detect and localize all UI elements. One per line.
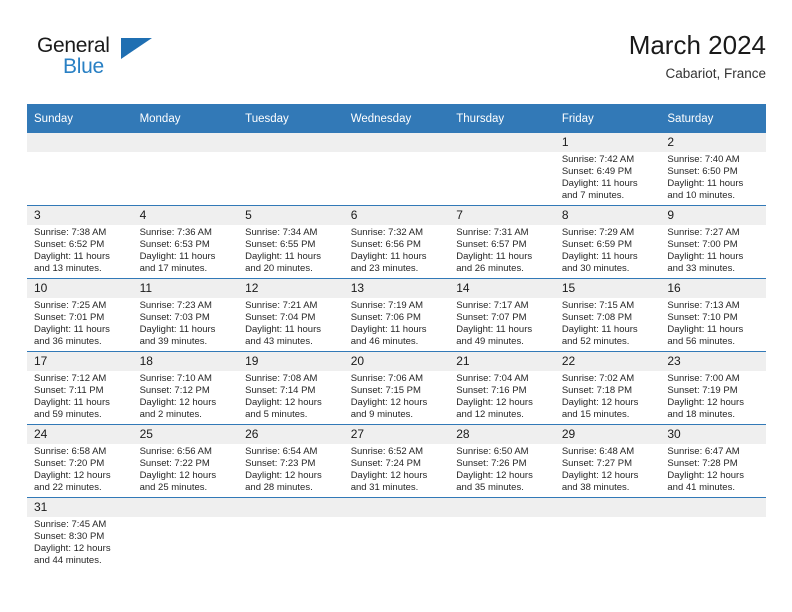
day-cell-content: 1Sunrise: 7:42 AMSunset: 6:49 PMDaylight… <box>555 133 661 205</box>
daylight-text-line1: Daylight: 12 hours <box>351 470 445 482</box>
sunset-text: Sunset: 6:50 PM <box>667 166 761 178</box>
day-sun-info: Sunrise: 7:34 AMSunset: 6:55 PMDaylight:… <box>238 225 344 275</box>
day-cell-content <box>555 498 661 576</box>
day-sun-info: Sunrise: 7:15 AMSunset: 7:08 PMDaylight:… <box>555 298 661 348</box>
day-sun-info: Sunrise: 7:21 AMSunset: 7:04 PMDaylight:… <box>238 298 344 348</box>
calendar-day-cell[interactable]: 22Sunrise: 7:02 AMSunset: 7:18 PMDayligh… <box>555 352 661 425</box>
daylight-text-line2: and 7 minutes. <box>562 190 656 202</box>
sunset-text: Sunset: 7:00 PM <box>667 239 761 251</box>
sunset-text: Sunset: 6:56 PM <box>351 239 445 251</box>
daylight-text-line1: Daylight: 11 hours <box>562 324 656 336</box>
calendar-day-cell[interactable] <box>449 133 555 206</box>
day-number <box>238 498 344 517</box>
day-cell-content: 8Sunrise: 7:29 AMSunset: 6:59 PMDaylight… <box>555 206 661 278</box>
daylight-text-line1: Daylight: 11 hours <box>140 324 234 336</box>
day-cell-content: 25Sunrise: 6:56 AMSunset: 7:22 PMDayligh… <box>133 425 239 497</box>
daylight-text-line2: and 31 minutes. <box>351 482 445 494</box>
day-sun-info <box>449 517 555 519</box>
day-sun-info: Sunrise: 7:17 AMSunset: 7:07 PMDaylight:… <box>449 298 555 348</box>
day-number: 14 <box>449 279 555 298</box>
day-sun-info: Sunrise: 7:38 AMSunset: 6:52 PMDaylight:… <box>27 225 133 275</box>
daylight-text-line2: and 52 minutes. <box>562 336 656 348</box>
sunrise-text: Sunrise: 7:12 AM <box>34 373 128 385</box>
daylight-text-line1: Daylight: 11 hours <box>667 324 761 336</box>
daylight-text-line2: and 20 minutes. <box>245 263 339 275</box>
sunset-text: Sunset: 7:16 PM <box>456 385 550 397</box>
day-sun-info: Sunrise: 6:54 AMSunset: 7:23 PMDaylight:… <box>238 444 344 494</box>
day-cell-content: 6Sunrise: 7:32 AMSunset: 6:56 PMDaylight… <box>344 206 450 278</box>
daylight-text-line1: Daylight: 11 hours <box>456 251 550 263</box>
day-cell-content <box>238 133 344 205</box>
daylight-text-line2: and 35 minutes. <box>456 482 550 494</box>
day-number: 23 <box>660 352 766 371</box>
sunrise-text: Sunrise: 7:31 AM <box>456 227 550 239</box>
day-sun-info: Sunrise: 7:23 AMSunset: 7:03 PMDaylight:… <box>133 298 239 348</box>
title-block: March 2024 Cabariot, France <box>629 28 766 84</box>
daylight-text-line1: Daylight: 12 hours <box>456 470 550 482</box>
daylight-text-line2: and 23 minutes. <box>351 263 445 275</box>
sunset-text: Sunset: 7:27 PM <box>562 458 656 470</box>
day-sun-info <box>344 517 450 519</box>
day-cell-content: 17Sunrise: 7:12 AMSunset: 7:11 PMDayligh… <box>27 352 133 424</box>
sunset-text: Sunset: 6:53 PM <box>140 239 234 251</box>
calendar-week-row: 17Sunrise: 7:12 AMSunset: 7:11 PMDayligh… <box>27 352 766 425</box>
daylight-text-line1: Daylight: 11 hours <box>245 251 339 263</box>
calendar-day-cell[interactable] <box>555 498 661 577</box>
day-number: 26 <box>238 425 344 444</box>
calendar-day-cell[interactable]: 18Sunrise: 7:10 AMSunset: 7:12 PMDayligh… <box>133 352 239 425</box>
page-title: March 2024 <box>629 28 766 62</box>
daylight-text-line1: Daylight: 12 hours <box>245 470 339 482</box>
daylight-text-line2: and 33 minutes. <box>667 263 761 275</box>
day-sun-info: Sunrise: 7:25 AMSunset: 7:01 PMDaylight:… <box>27 298 133 348</box>
day-sun-info: Sunrise: 7:10 AMSunset: 7:12 PMDaylight:… <box>133 371 239 421</box>
day-cell-content: 18Sunrise: 7:10 AMSunset: 7:12 PMDayligh… <box>133 352 239 424</box>
daylight-text-line2: and 46 minutes. <box>351 336 445 348</box>
calendar-day-cell[interactable]: 2Sunrise: 7:40 AMSunset: 6:50 PMDaylight… <box>660 133 766 206</box>
day-sun-info: Sunrise: 7:02 AMSunset: 7:18 PMDaylight:… <box>555 371 661 421</box>
sunrise-text: Sunrise: 7:29 AM <box>562 227 656 239</box>
calendar-day-cell[interactable]: 31Sunrise: 7:45 AMSunset: 8:30 PMDayligh… <box>27 498 133 577</box>
calendar-day-cell[interactable] <box>344 498 450 577</box>
day-sun-info <box>344 152 450 154</box>
calendar-week-row: 24Sunrise: 6:58 AMSunset: 7:20 PMDayligh… <box>27 425 766 498</box>
day-cell-content: 3Sunrise: 7:38 AMSunset: 6:52 PMDaylight… <box>27 206 133 278</box>
day-cell-content: 22Sunrise: 7:02 AMSunset: 7:18 PMDayligh… <box>555 352 661 424</box>
sunrise-text: Sunrise: 6:56 AM <box>140 446 234 458</box>
day-cell-content: 10Sunrise: 7:25 AMSunset: 7:01 PMDayligh… <box>27 279 133 351</box>
calendar-day-cell[interactable]: 30Sunrise: 6:47 AMSunset: 7:28 PMDayligh… <box>660 425 766 498</box>
daylight-text-line1: Daylight: 11 hours <box>351 324 445 336</box>
calendar-day-cell[interactable] <box>344 133 450 206</box>
daylight-text-line1: Daylight: 11 hours <box>351 251 445 263</box>
day-sun-info <box>133 517 239 519</box>
sunrise-text: Sunrise: 6:48 AM <box>562 446 656 458</box>
day-sun-info: Sunrise: 7:08 AMSunset: 7:14 PMDaylight:… <box>238 371 344 421</box>
daylight-text-line1: Daylight: 12 hours <box>351 397 445 409</box>
daylight-text-line2: and 12 minutes. <box>456 409 550 421</box>
daylight-text-line2: and 36 minutes. <box>34 336 128 348</box>
calendar-day-cell[interactable]: 7Sunrise: 7:31 AMSunset: 6:57 PMDaylight… <box>449 206 555 279</box>
daylight-text-line1: Daylight: 11 hours <box>562 178 656 190</box>
sunrise-text: Sunrise: 7:08 AM <box>245 373 339 385</box>
calendar-day-cell[interactable]: 14Sunrise: 7:17 AMSunset: 7:07 PMDayligh… <box>449 279 555 352</box>
calendar-day-cell[interactable]: 8Sunrise: 7:29 AMSunset: 6:59 PMDaylight… <box>555 206 661 279</box>
day-number: 5 <box>238 206 344 225</box>
daylight-text-line1: Daylight: 11 hours <box>34 251 128 263</box>
calendar-day-cell[interactable]: 1Sunrise: 7:42 AMSunset: 6:49 PMDaylight… <box>555 133 661 206</box>
sunrise-text: Sunrise: 7:21 AM <box>245 300 339 312</box>
daylight-text-line2: and 15 minutes. <box>562 409 656 421</box>
daylight-text-line1: Daylight: 11 hours <box>456 324 550 336</box>
day-number: 25 <box>133 425 239 444</box>
day-cell-content: 24Sunrise: 6:58 AMSunset: 7:20 PMDayligh… <box>27 425 133 497</box>
day-number: 21 <box>449 352 555 371</box>
daylight-text-line1: Daylight: 12 hours <box>140 397 234 409</box>
day-cell-content: 31Sunrise: 7:45 AMSunset: 8:30 PMDayligh… <box>27 498 133 576</box>
calendar-day-cell[interactable]: 23Sunrise: 7:00 AMSunset: 7:19 PMDayligh… <box>660 352 766 425</box>
weekday-header-saturday: Saturday <box>660 104 766 133</box>
daylight-text-line1: Daylight: 11 hours <box>140 251 234 263</box>
sunrise-text: Sunrise: 6:50 AM <box>456 446 550 458</box>
sunset-text: Sunset: 7:20 PM <box>34 458 128 470</box>
daylight-text-line2: and 38 minutes. <box>562 482 656 494</box>
day-number: 13 <box>344 279 450 298</box>
day-sun-info: Sunrise: 6:52 AMSunset: 7:24 PMDaylight:… <box>344 444 450 494</box>
day-sun-info: Sunrise: 7:04 AMSunset: 7:16 PMDaylight:… <box>449 371 555 421</box>
daylight-text-line1: Daylight: 11 hours <box>667 251 761 263</box>
day-sun-info: Sunrise: 7:00 AMSunset: 7:19 PMDaylight:… <box>660 371 766 421</box>
calendar-day-cell[interactable] <box>133 133 239 206</box>
logo-text-blue: Blue <box>63 55 104 79</box>
calendar-day-cell[interactable]: 4Sunrise: 7:36 AMSunset: 6:53 PMDaylight… <box>133 206 239 279</box>
day-sun-info: Sunrise: 6:47 AMSunset: 7:28 PMDaylight:… <box>660 444 766 494</box>
day-cell-content <box>133 498 239 576</box>
daylight-text-line1: Daylight: 12 hours <box>140 470 234 482</box>
sunset-text: Sunset: 7:15 PM <box>351 385 445 397</box>
day-sun-info <box>660 517 766 519</box>
day-number <box>27 133 133 152</box>
day-number: 3 <box>27 206 133 225</box>
daylight-text-line1: Daylight: 11 hours <box>34 397 128 409</box>
day-sun-info: Sunrise: 7:27 AMSunset: 7:00 PMDaylight:… <box>660 225 766 275</box>
daylight-text-line1: Daylight: 11 hours <box>562 251 656 263</box>
sunset-text: Sunset: 8:30 PM <box>34 531 128 543</box>
sunset-text: Sunset: 7:18 PM <box>562 385 656 397</box>
day-sun-info: Sunrise: 6:56 AMSunset: 7:22 PMDaylight:… <box>133 444 239 494</box>
weekday-header-tuesday: Tuesday <box>238 104 344 133</box>
day-cell-content: 29Sunrise: 6:48 AMSunset: 7:27 PMDayligh… <box>555 425 661 497</box>
calendar-day-cell[interactable]: 5Sunrise: 7:34 AMSunset: 6:55 PMDaylight… <box>238 206 344 279</box>
daylight-text-line2: and 17 minutes. <box>140 263 234 275</box>
calendar-day-cell[interactable]: 19Sunrise: 7:08 AMSunset: 7:14 PMDayligh… <box>238 352 344 425</box>
day-cell-content: 21Sunrise: 7:04 AMSunset: 7:16 PMDayligh… <box>449 352 555 424</box>
daylight-text-line1: Daylight: 12 hours <box>562 397 656 409</box>
weekday-header-wednesday: Wednesday <box>344 104 450 133</box>
day-sun-info <box>555 517 661 519</box>
calendar-day-cell[interactable]: 26Sunrise: 6:54 AMSunset: 7:23 PMDayligh… <box>238 425 344 498</box>
daylight-text-line2: and 18 minutes. <box>667 409 761 421</box>
weekday-header-sunday: Sunday <box>27 104 133 133</box>
sunset-text: Sunset: 7:03 PM <box>140 312 234 324</box>
sunset-text: Sunset: 6:55 PM <box>245 239 339 251</box>
day-sun-info: Sunrise: 7:45 AMSunset: 8:30 PMDaylight:… <box>27 517 133 567</box>
day-number: 19 <box>238 352 344 371</box>
calendar-header-row: Sunday Monday Tuesday Wednesday Thursday… <box>27 104 766 133</box>
sunrise-text: Sunrise: 6:58 AM <box>34 446 128 458</box>
day-number: 2 <box>660 133 766 152</box>
sunrise-sunset-calendar: Sunday Monday Tuesday Wednesday Thursday… <box>27 104 766 576</box>
day-number <box>344 498 450 517</box>
sunrise-text: Sunrise: 7:45 AM <box>34 519 128 531</box>
calendar-day-cell[interactable]: 10Sunrise: 7:25 AMSunset: 7:01 PMDayligh… <box>27 279 133 352</box>
general-blue-logo[interactable]: General Blue <box>37 34 217 90</box>
day-number: 4 <box>133 206 239 225</box>
day-number <box>344 133 450 152</box>
calendar-week-row: 1Sunrise: 7:42 AMSunset: 6:49 PMDaylight… <box>27 133 766 206</box>
sunrise-text: Sunrise: 7:42 AM <box>562 154 656 166</box>
day-sun-info: Sunrise: 7:40 AMSunset: 6:50 PMDaylight:… <box>660 152 766 202</box>
day-number: 8 <box>555 206 661 225</box>
day-number: 31 <box>27 498 133 517</box>
day-cell-content: 20Sunrise: 7:06 AMSunset: 7:15 PMDayligh… <box>344 352 450 424</box>
sunset-text: Sunset: 7:10 PM <box>667 312 761 324</box>
day-cell-content <box>660 498 766 576</box>
sunrise-text: Sunrise: 6:47 AM <box>667 446 761 458</box>
daylight-text-line2: and 13 minutes. <box>34 263 128 275</box>
sunrise-text: Sunrise: 7:10 AM <box>140 373 234 385</box>
sunrise-text: Sunrise: 7:06 AM <box>351 373 445 385</box>
day-cell-content: 16Sunrise: 7:13 AMSunset: 7:10 PMDayligh… <box>660 279 766 351</box>
sunset-text: Sunset: 6:52 PM <box>34 239 128 251</box>
day-number: 28 <box>449 425 555 444</box>
day-cell-content <box>344 498 450 576</box>
calendar-day-cell[interactable]: 12Sunrise: 7:21 AMSunset: 7:04 PMDayligh… <box>238 279 344 352</box>
day-sun-info <box>133 152 239 154</box>
daylight-text-line2: and 44 minutes. <box>34 555 128 567</box>
day-sun-info: Sunrise: 7:32 AMSunset: 6:56 PMDaylight:… <box>344 225 450 275</box>
day-sun-info: Sunrise: 7:36 AMSunset: 6:53 PMDaylight:… <box>133 225 239 275</box>
sunrise-text: Sunrise: 7:36 AM <box>140 227 234 239</box>
day-sun-info <box>238 517 344 519</box>
daylight-text-line2: and 26 minutes. <box>456 263 550 275</box>
day-sun-info <box>27 152 133 154</box>
daylight-text-line2: and 5 minutes. <box>245 409 339 421</box>
daylight-text-line1: Daylight: 11 hours <box>34 324 128 336</box>
day-number <box>449 133 555 152</box>
day-cell-content: 11Sunrise: 7:23 AMSunset: 7:03 PMDayligh… <box>133 279 239 351</box>
calendar-day-cell[interactable]: 29Sunrise: 6:48 AMSunset: 7:27 PMDayligh… <box>555 425 661 498</box>
daylight-text-line1: Daylight: 12 hours <box>562 470 656 482</box>
day-number <box>555 498 661 517</box>
sunset-text: Sunset: 7:24 PM <box>351 458 445 470</box>
day-cell-content: 12Sunrise: 7:21 AMSunset: 7:04 PMDayligh… <box>238 279 344 351</box>
day-number: 24 <box>27 425 133 444</box>
calendar-week-row: 10Sunrise: 7:25 AMSunset: 7:01 PMDayligh… <box>27 279 766 352</box>
day-cell-content <box>449 498 555 576</box>
calendar-day-cell[interactable]: 16Sunrise: 7:13 AMSunset: 7:10 PMDayligh… <box>660 279 766 352</box>
day-cell-content <box>344 133 450 205</box>
sunrise-text: Sunrise: 7:02 AM <box>562 373 656 385</box>
sunrise-text: Sunrise: 7:38 AM <box>34 227 128 239</box>
day-cell-content: 5Sunrise: 7:34 AMSunset: 6:55 PMDaylight… <box>238 206 344 278</box>
daylight-text-line1: Daylight: 12 hours <box>245 397 339 409</box>
day-cell-content: 15Sunrise: 7:15 AMSunset: 7:08 PMDayligh… <box>555 279 661 351</box>
daylight-text-line1: Daylight: 12 hours <box>667 470 761 482</box>
day-cell-content <box>449 133 555 205</box>
sunrise-text: Sunrise: 6:54 AM <box>245 446 339 458</box>
day-cell-content: 23Sunrise: 7:00 AMSunset: 7:19 PMDayligh… <box>660 352 766 424</box>
day-cell-content: 26Sunrise: 6:54 AMSunset: 7:23 PMDayligh… <box>238 425 344 497</box>
sunrise-text: Sunrise: 7:32 AM <box>351 227 445 239</box>
calendar-day-cell[interactable]: 9Sunrise: 7:27 AMSunset: 7:00 PMDaylight… <box>660 206 766 279</box>
calendar-day-cell[interactable]: 3Sunrise: 7:38 AMSunset: 6:52 PMDaylight… <box>27 206 133 279</box>
day-number <box>449 498 555 517</box>
sunset-text: Sunset: 7:12 PM <box>140 385 234 397</box>
sunset-text: Sunset: 7:01 PM <box>34 312 128 324</box>
sunrise-text: Sunrise: 7:17 AM <box>456 300 550 312</box>
day-number: 6 <box>344 206 450 225</box>
calendar-day-cell[interactable]: 24Sunrise: 6:58 AMSunset: 7:20 PMDayligh… <box>27 425 133 498</box>
day-number: 9 <box>660 206 766 225</box>
calendar-week-row: 31Sunrise: 7:45 AMSunset: 8:30 PMDayligh… <box>27 498 766 577</box>
day-sun-info <box>238 152 344 154</box>
sunset-text: Sunset: 7:07 PM <box>456 312 550 324</box>
day-sun-info: Sunrise: 7:42 AMSunset: 6:49 PMDaylight:… <box>555 152 661 202</box>
day-number: 20 <box>344 352 450 371</box>
calendar-day-cell[interactable]: 13Sunrise: 7:19 AMSunset: 7:06 PMDayligh… <box>344 279 450 352</box>
day-sun-info: Sunrise: 7:29 AMSunset: 6:59 PMDaylight:… <box>555 225 661 275</box>
daylight-text-line2: and 10 minutes. <box>667 190 761 202</box>
sunrise-text: Sunrise: 7:40 AM <box>667 154 761 166</box>
weekday-header-monday: Monday <box>133 104 239 133</box>
day-sun-info: Sunrise: 6:50 AMSunset: 7:26 PMDaylight:… <box>449 444 555 494</box>
daylight-text-line1: Daylight: 11 hours <box>667 178 761 190</box>
sunrise-text: Sunrise: 7:00 AM <box>667 373 761 385</box>
daylight-text-line1: Daylight: 12 hours <box>456 397 550 409</box>
day-sun-info: Sunrise: 7:31 AMSunset: 6:57 PMDaylight:… <box>449 225 555 275</box>
day-sun-info: Sunrise: 6:48 AMSunset: 7:27 PMDaylight:… <box>555 444 661 494</box>
daylight-text-line2: and 2 minutes. <box>140 409 234 421</box>
calendar-day-cell[interactable]: 20Sunrise: 7:06 AMSunset: 7:15 PMDayligh… <box>344 352 450 425</box>
day-number: 22 <box>555 352 661 371</box>
calendar-day-cell[interactable]: 6Sunrise: 7:32 AMSunset: 6:56 PMDaylight… <box>344 206 450 279</box>
weekday-header-thursday: Thursday <box>449 104 555 133</box>
sunrise-text: Sunrise: 7:34 AM <box>245 227 339 239</box>
day-cell-content: 30Sunrise: 6:47 AMSunset: 7:28 PMDayligh… <box>660 425 766 497</box>
sunrise-text: Sunrise: 7:19 AM <box>351 300 445 312</box>
sunset-text: Sunset: 7:19 PM <box>667 385 761 397</box>
location-subtitle: Cabariot, France <box>629 64 766 84</box>
day-cell-content: 13Sunrise: 7:19 AMSunset: 7:06 PMDayligh… <box>344 279 450 351</box>
sunrise-text: Sunrise: 7:15 AM <box>562 300 656 312</box>
calendar-day-cell[interactable]: 28Sunrise: 6:50 AMSunset: 7:26 PMDayligh… <box>449 425 555 498</box>
daylight-text-line2: and 49 minutes. <box>456 336 550 348</box>
day-sun-info: Sunrise: 7:12 AMSunset: 7:11 PMDaylight:… <box>27 371 133 421</box>
sunset-text: Sunset: 7:23 PM <box>245 458 339 470</box>
sunset-text: Sunset: 7:04 PM <box>245 312 339 324</box>
calendar-day-cell[interactable]: 11Sunrise: 7:23 AMSunset: 7:03 PMDayligh… <box>133 279 239 352</box>
daylight-text-line1: Daylight: 11 hours <box>245 324 339 336</box>
calendar-day-cell[interactable]: 21Sunrise: 7:04 AMSunset: 7:16 PMDayligh… <box>449 352 555 425</box>
daylight-text-line2: and 43 minutes. <box>245 336 339 348</box>
day-cell-content: 4Sunrise: 7:36 AMSunset: 6:53 PMDaylight… <box>133 206 239 278</box>
daylight-text-line2: and 22 minutes. <box>34 482 128 494</box>
day-number: 27 <box>344 425 450 444</box>
sunrise-text: Sunrise: 7:23 AM <box>140 300 234 312</box>
daylight-text-line2: and 30 minutes. <box>562 263 656 275</box>
daylight-text-line2: and 39 minutes. <box>140 336 234 348</box>
day-number: 1 <box>555 133 661 152</box>
daylight-text-line2: and 41 minutes. <box>667 482 761 494</box>
calendar-day-cell[interactable] <box>133 498 239 577</box>
sunset-text: Sunset: 7:26 PM <box>456 458 550 470</box>
day-cell-content: 28Sunrise: 6:50 AMSunset: 7:26 PMDayligh… <box>449 425 555 497</box>
day-number <box>133 498 239 517</box>
calendar-day-cell[interactable]: 15Sunrise: 7:15 AMSunset: 7:08 PMDayligh… <box>555 279 661 352</box>
day-number <box>133 133 239 152</box>
day-sun-info: Sunrise: 7:19 AMSunset: 7:06 PMDaylight:… <box>344 298 450 348</box>
day-sun-info: Sunrise: 6:58 AMSunset: 7:20 PMDaylight:… <box>27 444 133 494</box>
calendar-body: 1Sunrise: 7:42 AMSunset: 6:49 PMDaylight… <box>27 133 766 576</box>
day-number: 11 <box>133 279 239 298</box>
day-sun-info: Sunrise: 7:06 AMSunset: 7:15 PMDaylight:… <box>344 371 450 421</box>
sunrise-text: Sunrise: 7:27 AM <box>667 227 761 239</box>
day-number: 7 <box>449 206 555 225</box>
daylight-text-line2: and 25 minutes. <box>140 482 234 494</box>
day-number: 12 <box>238 279 344 298</box>
day-cell-content <box>133 133 239 205</box>
weekday-header-friday: Friday <box>555 104 661 133</box>
daylight-text-line2: and 59 minutes. <box>34 409 128 421</box>
sunset-text: Sunset: 7:28 PM <box>667 458 761 470</box>
calendar-day-cell[interactable] <box>449 498 555 577</box>
day-number <box>660 498 766 517</box>
day-number: 10 <box>27 279 133 298</box>
day-sun-info <box>449 152 555 154</box>
sunrise-text: Sunrise: 7:04 AM <box>456 373 550 385</box>
sunset-text: Sunset: 7:06 PM <box>351 312 445 324</box>
sunset-text: Sunset: 6:49 PM <box>562 166 656 178</box>
sunrise-text: Sunrise: 7:13 AM <box>667 300 761 312</box>
sunset-text: Sunset: 7:14 PM <box>245 385 339 397</box>
sunset-text: Sunset: 7:11 PM <box>34 385 128 397</box>
calendar-day-cell[interactable] <box>238 133 344 206</box>
calendar-day-cell[interactable] <box>27 133 133 206</box>
day-cell-content: 7Sunrise: 7:31 AMSunset: 6:57 PMDaylight… <box>449 206 555 278</box>
page-header: General Blue March 2024 Cabariot, France <box>27 28 766 100</box>
calendar-day-cell[interactable] <box>660 498 766 577</box>
calendar-day-cell[interactable]: 27Sunrise: 6:52 AMSunset: 7:24 PMDayligh… <box>344 425 450 498</box>
calendar-page: General Blue March 2024 Cabariot, France… <box>0 0 792 612</box>
day-sun-info: Sunrise: 7:13 AMSunset: 7:10 PMDaylight:… <box>660 298 766 348</box>
calendar-day-cell[interactable]: 25Sunrise: 6:56 AMSunset: 7:22 PMDayligh… <box>133 425 239 498</box>
day-number: 16 <box>660 279 766 298</box>
day-cell-content: 2Sunrise: 7:40 AMSunset: 6:50 PMDaylight… <box>660 133 766 205</box>
calendar-day-cell[interactable]: 17Sunrise: 7:12 AMSunset: 7:11 PMDayligh… <box>27 352 133 425</box>
day-number: 17 <box>27 352 133 371</box>
daylight-text-line2: and 56 minutes. <box>667 336 761 348</box>
daylight-text-line1: Daylight: 12 hours <box>34 543 128 555</box>
blue-triangle-flag-icon <box>121 38 152 59</box>
day-cell-content: 9Sunrise: 7:27 AMSunset: 7:00 PMDaylight… <box>660 206 766 278</box>
sunset-text: Sunset: 6:59 PM <box>562 239 656 251</box>
day-cell-content <box>27 133 133 205</box>
calendar-day-cell[interactable] <box>238 498 344 577</box>
day-number: 29 <box>555 425 661 444</box>
day-number: 15 <box>555 279 661 298</box>
daylight-text-line2: and 28 minutes. <box>245 482 339 494</box>
